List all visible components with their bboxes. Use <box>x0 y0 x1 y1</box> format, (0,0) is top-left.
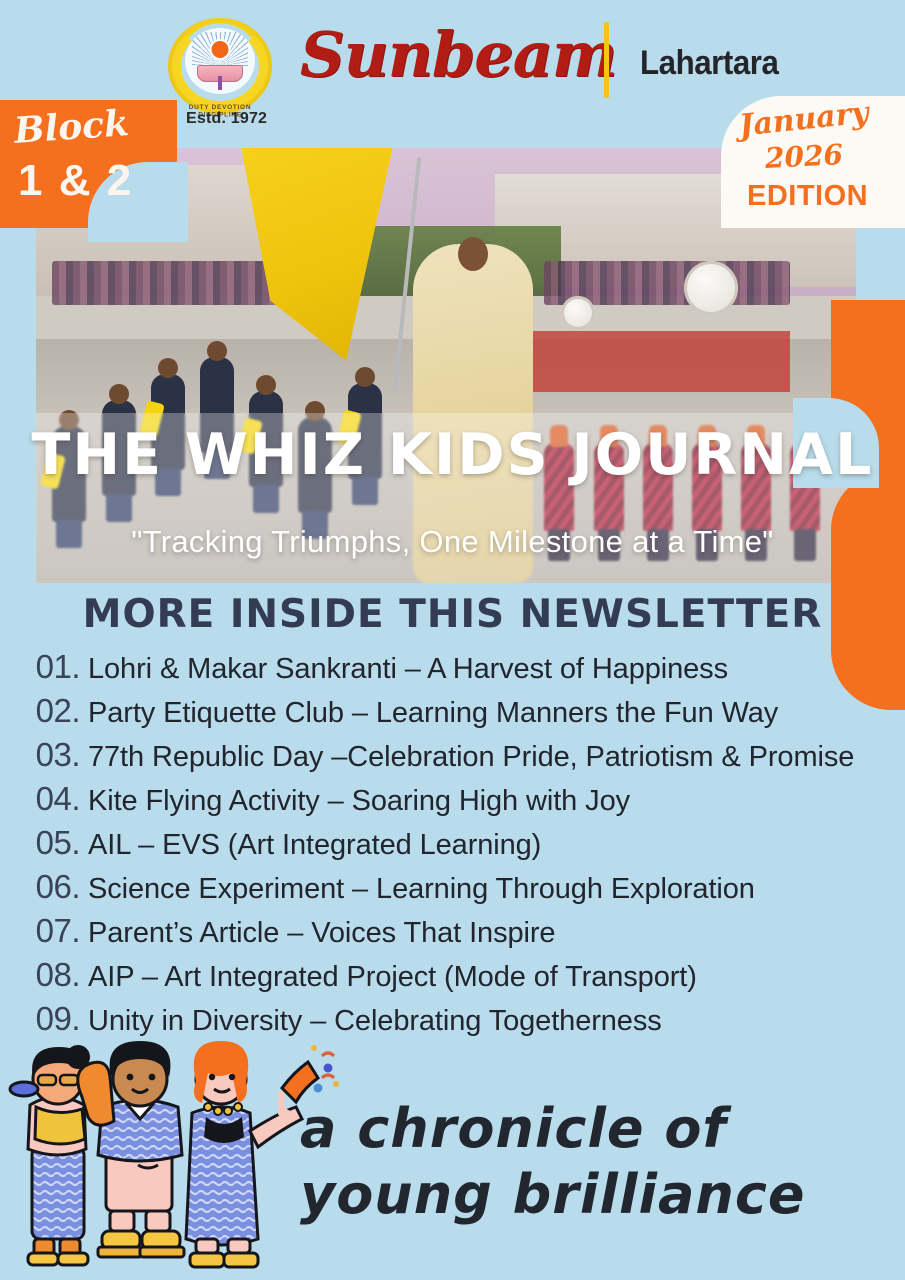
crest-stem-icon <box>218 76 222 90</box>
photo-snare-drum <box>561 296 595 330</box>
list-item-label: Parent’s Article – Voices That Inspire <box>88 917 555 950</box>
edition-year: 2026 <box>764 138 844 175</box>
edition-label: EDITION <box>747 180 868 213</box>
list-item-number: 05. <box>14 824 88 862</box>
footer-tagline-line2: young brilliance <box>300 1162 900 1228</box>
photo-bass-drum <box>684 261 738 315</box>
list-item: 06. Science Experiment – Learning Throug… <box>14 868 894 912</box>
page-tagline: "Tracking Triumphs, One Milestone at a T… <box>0 524 905 560</box>
block-badge-value: 1 & 2 <box>18 156 133 206</box>
photo-flag-bearer-head <box>458 237 488 271</box>
list-item-label: Party Etiquette Club – Learning Manners … <box>88 697 778 730</box>
footer-tagline-line1: a chronicle of <box>300 1096 900 1162</box>
photo-crowd <box>52 261 298 305</box>
page-title: THE WHIZ KIDS JOURNAL <box>0 422 905 488</box>
list-item-number: 02. <box>14 692 88 730</box>
party-popper-icon <box>278 1040 348 1120</box>
crest-sun-icon <box>212 41 229 58</box>
list-item-number: 09. <box>14 1000 88 1038</box>
list-item: 02. Party Etiquette Club – Learning Mann… <box>14 692 894 736</box>
contents-list: 01. Lohri & Makar Sankranti – A Harvest … <box>14 648 894 1044</box>
list-item-label: 77th Republic Day –Celebration Pride, Pa… <box>88 741 854 774</box>
list-item-label: Kite Flying Activity – Soaring High with… <box>88 785 630 818</box>
list-item-number: 01. <box>14 648 88 686</box>
list-item-label: Lohri & Makar Sankranti – A Harvest of H… <box>88 653 728 686</box>
list-item-number: 07. <box>14 912 88 950</box>
newsletter-poster: DUTY DEVOTION DISCIPLINE Estd. 1972 Sunb… <box>0 0 905 1280</box>
brand-name: Sunbeam <box>300 24 617 86</box>
list-item-label: AIL – EVS (Art Integrated Learning) <box>88 829 541 862</box>
edition-month: January <box>738 95 871 143</box>
list-item: 04. Kite Flying Activity – Soaring High … <box>14 780 894 824</box>
list-item: 07. Parent’s Article – Voices That Inspi… <box>14 912 894 956</box>
block-badge: Block 1 & 2 <box>0 100 177 228</box>
list-item-number: 08. <box>14 956 88 994</box>
list-item-number: 04. <box>14 780 88 818</box>
contents-heading: MORE INSIDE THIS NEWSLETTER <box>0 592 905 637</box>
list-item: 03. 77th Republic Day –Celebration Pride… <box>14 736 894 780</box>
list-item: 05. AIL – EVS (Art Integrated Learning) <box>14 824 894 868</box>
list-item-label: Unity in Diversity – Celebrating Togethe… <box>88 1005 662 1038</box>
child-center <box>78 1041 184 1257</box>
list-item-number: 03. <box>14 736 88 774</box>
footer-tagline: a chronicle of young brilliance <box>300 1096 900 1228</box>
list-item: 08. AIP – Art Integrated Project (Mode o… <box>14 956 894 1000</box>
children-illustration <box>6 1035 306 1280</box>
school-crest-logo: DUTY DEVOTION DISCIPLINE <box>168 14 272 118</box>
list-item-number: 06. <box>14 868 88 906</box>
list-item: 01. Lohri & Makar Sankranti – A Harvest … <box>14 648 894 692</box>
list-item-label: AIP – Art Integrated Project (Mode of Tr… <box>88 961 697 994</box>
photo-red-carpet <box>495 331 790 392</box>
list-item-label: Science Experiment – Learning Through Ex… <box>88 873 755 906</box>
edition-badge: January 2026 EDITION <box>721 96 905 228</box>
branch-name: Lahartara <box>640 44 778 83</box>
crest-emblem-icon <box>185 28 255 94</box>
block-badge-label: Block <box>13 102 131 152</box>
brand-divider <box>604 22 609 98</box>
established-year: Estd. 1972 <box>186 110 267 128</box>
